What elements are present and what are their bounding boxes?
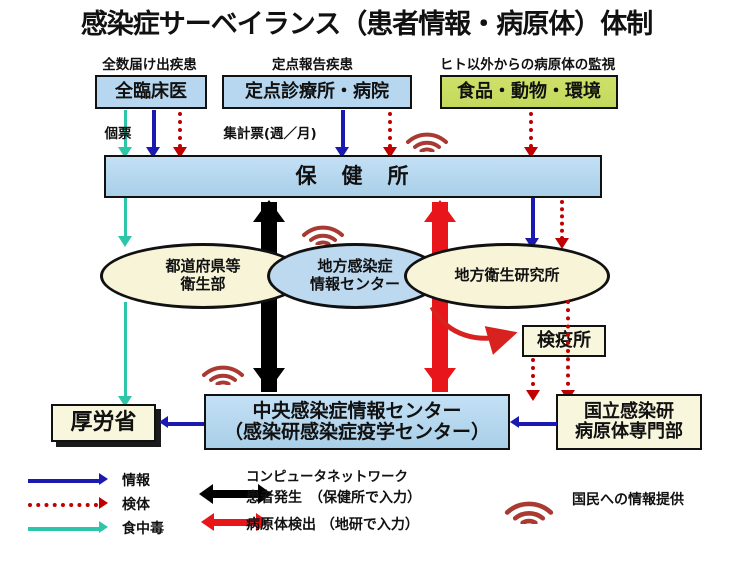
legend-info-arrowhead (99, 473, 108, 485)
arrow-quarantine-to-niid-specimen-line (531, 358, 535, 394)
node-food-animal-env[interactable]: 食品・動物・環境 (440, 75, 618, 109)
arrow-patient-network-head-down (253, 368, 285, 390)
arrow-central-to-mhlw-info-head (159, 416, 168, 428)
legend-pathogen-arrowhead-left (201, 513, 214, 531)
arrow-central-to-mhlw-info-line (168, 422, 204, 426)
node-central-info-center[interactable]: 中央感染症情報センター （感染研感染症疫学センター） (204, 394, 510, 450)
node-sentinel-clinics-label: 定点診療所・病院 (245, 82, 389, 102)
node-health-center[interactable]: 保 健 所 (104, 155, 602, 198)
arrow-clinicians-to-health-center-info-line (152, 110, 156, 150)
caption-all-report: 全数届け出疾患 (82, 53, 217, 73)
arrow-quarantine-to-niid-specimen-head (526, 390, 540, 401)
arrow-pathogen-network-head-down (424, 368, 456, 390)
legend-item-pathogen-detection: 病原体検出 （地研で入力） (246, 514, 419, 534)
arrow-pref-to-mhlw-foodpoison-line (124, 302, 127, 400)
legend-network-heading: コンピュータネットワーク (246, 465, 408, 485)
arrow-niid-to-central-info-head (510, 416, 519, 428)
node-prefectural-health-dept-label-1: 都道府県等 (165, 258, 240, 276)
caption-non-human-monitoring: ヒト以外からの病原体の監視 (410, 53, 645, 73)
legend-item-foodpoisoning: 食中毒 (122, 518, 164, 538)
arrow-health-center-to-pref-foodpoison-head (118, 236, 132, 247)
node-central-info-center-label-2: （感染研感染症疫学センター） (224, 422, 490, 443)
legend-item-public-information: 国民への情報提供 (572, 489, 684, 509)
arrow-clinicians-to-health-center-specimen-line (178, 112, 182, 148)
wifi-broadcast-icon-legend (502, 478, 556, 524)
legend-info-line (28, 479, 100, 483)
node-local-institute[interactable]: 地方衛生研究所 (404, 243, 610, 309)
arrow-health-center-to-pref-foodpoison-line (124, 198, 127, 240)
node-local-institute-label: 地方衛生研究所 (454, 267, 559, 285)
arrow-pathogen-network-head-up (424, 200, 456, 222)
diagram-canvas: 感染症サーベイランス（患者情報・病原体）体制 全数届け出疾患 定点報告疾患 ヒト… (0, 0, 733, 564)
legend-specimen-line (28, 503, 98, 507)
caption-individual-form: 個票 (95, 122, 141, 142)
node-local-info-center-label-1: 地方感染症 (310, 258, 400, 276)
node-sentinel-clinics[interactable]: 定点診療所・病院 (222, 75, 412, 109)
node-quarantine-label: 検疫所 (537, 331, 591, 351)
node-local-info-center-label-2: 情報センター (310, 276, 400, 294)
arrow-niid-to-central-info-line (519, 422, 557, 426)
node-all-clinicians[interactable]: 全臨床医 (95, 75, 207, 109)
legend-foodpoison-arrowhead (99, 521, 108, 533)
node-all-clinicians-label: 全臨床医 (115, 82, 187, 102)
arrow-patient-network-head-up (253, 200, 285, 222)
node-quarantine[interactable]: 検疫所 (522, 325, 606, 357)
arrow-sentinel-to-health-center-info-line (341, 110, 345, 150)
node-central-info-center-label-1: 中央感染症情報センター (224, 401, 490, 422)
legend-item-patient-occurrence: 患者発生 （保健所で入力） (246, 487, 421, 507)
legend-item-information: 情報 (122, 470, 150, 490)
wifi-broadcast-icon-lower (200, 345, 246, 385)
arrow-food-to-health-center-specimen-line (529, 112, 533, 148)
legend-item-specimen: 検体 (122, 494, 150, 514)
node-niid-pathogen-dept-label-1: 国立感染研 (575, 402, 683, 422)
wifi-broadcast-icon-top (404, 112, 450, 152)
node-niid-pathogen-dept[interactable]: 国立感染研 病原体専門部 (556, 394, 702, 450)
node-health-center-label: 保 健 所 (296, 165, 411, 189)
node-mhlw-label: 厚労省 (70, 411, 136, 436)
node-prefectural-health-dept-label-2: 衛生部 (165, 276, 240, 294)
caption-aggregate-form: 集計票(週／月) (205, 122, 335, 142)
node-food-animal-env-label: 食品・動物・環境 (457, 82, 601, 102)
caption-sentinel-report: 定点報告疾患 (245, 53, 380, 73)
node-mhlw[interactable]: 厚労省 (51, 404, 156, 442)
arrow-sentinel-to-health-center-specimen-line (388, 112, 392, 148)
legend-patient-arrowhead-left (199, 484, 213, 504)
arrow-institute-to-niid-specimen-line (566, 300, 570, 394)
legend-foodpoison-line (28, 527, 100, 531)
wifi-broadcast-icon-middle (300, 205, 346, 245)
arrow-health-center-to-institute-specimen-line (560, 200, 564, 240)
arrow-health-center-to-institute-info-line (531, 198, 535, 242)
node-niid-pathogen-dept-label-2: 病原体専門部 (575, 422, 683, 442)
legend-specimen-arrowhead (99, 497, 108, 509)
page-title: 感染症サーベイランス（患者情報・病原体）体制 (0, 2, 733, 41)
